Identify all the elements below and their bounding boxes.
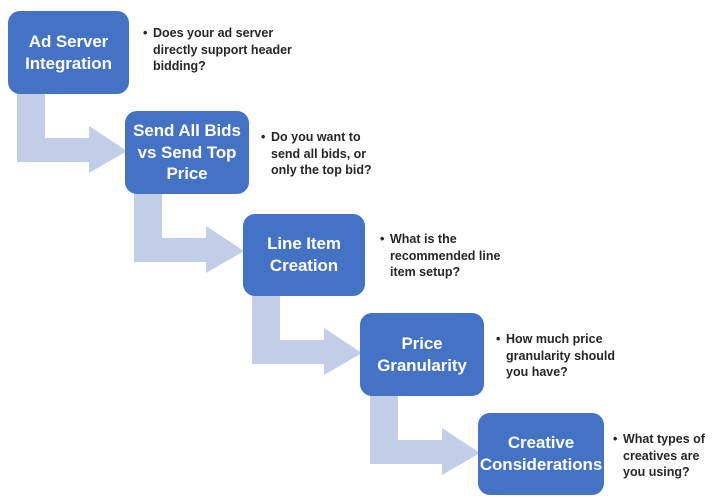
bullet-point-icon: • <box>613 431 622 448</box>
step-box-ad-server-integration[interactable]: Ad Server Integration <box>8 11 129 94</box>
note-ad-server-integration: • Does your ad server directly support h… <box>143 25 293 75</box>
step-box-price-granularity[interactable]: Price Granularity <box>360 313 484 396</box>
note-line-item-creation: • What is the recommended line item setu… <box>380 231 510 281</box>
note-creative-considerations: • What types of creatives are you using? <box>613 431 718 481</box>
elbow-arrow-icon <box>370 395 480 475</box>
elbow-arrow-icon <box>252 295 362 375</box>
elbow-arrow-icon <box>134 193 244 273</box>
note-text: Does your ad server directly support hea… <box>153 25 293 75</box>
note-text: What is the recommended line item setup? <box>390 231 510 281</box>
step-box-send-all-bids-vs-send-top-price[interactable]: Send All Bids vs Send Top Price <box>125 111 249 194</box>
note-send-all-bids-vs-send-top-price: • Do you want to send all bids, or only … <box>261 129 386 179</box>
connector-arrow-2 <box>134 193 244 273</box>
note-text: Do you want to send all bids, or only th… <box>271 129 386 179</box>
step-box-creative-considerations[interactable]: Creative Considerations <box>478 413 604 495</box>
note-text: How much price granularity should you ha… <box>506 331 621 381</box>
step-box-line-item-creation[interactable]: Line Item Creation <box>243 214 365 296</box>
bullet-point-icon: • <box>496 331 505 348</box>
note-price-granularity: • How much price granularity should you … <box>496 331 621 381</box>
flowchart-canvas: Ad Server Integration Send All Bids vs S… <box>0 0 723 500</box>
connector-arrow-1 <box>17 93 127 173</box>
note-text: What types of creatives are you using? <box>623 431 718 481</box>
elbow-arrow-icon <box>17 93 127 173</box>
connector-arrow-4 <box>370 395 480 475</box>
bullet-point-icon: • <box>143 25 152 42</box>
connector-arrow-3 <box>252 295 362 375</box>
bullet-point-icon: • <box>380 231 389 248</box>
bullet-point-icon: • <box>261 129 270 146</box>
